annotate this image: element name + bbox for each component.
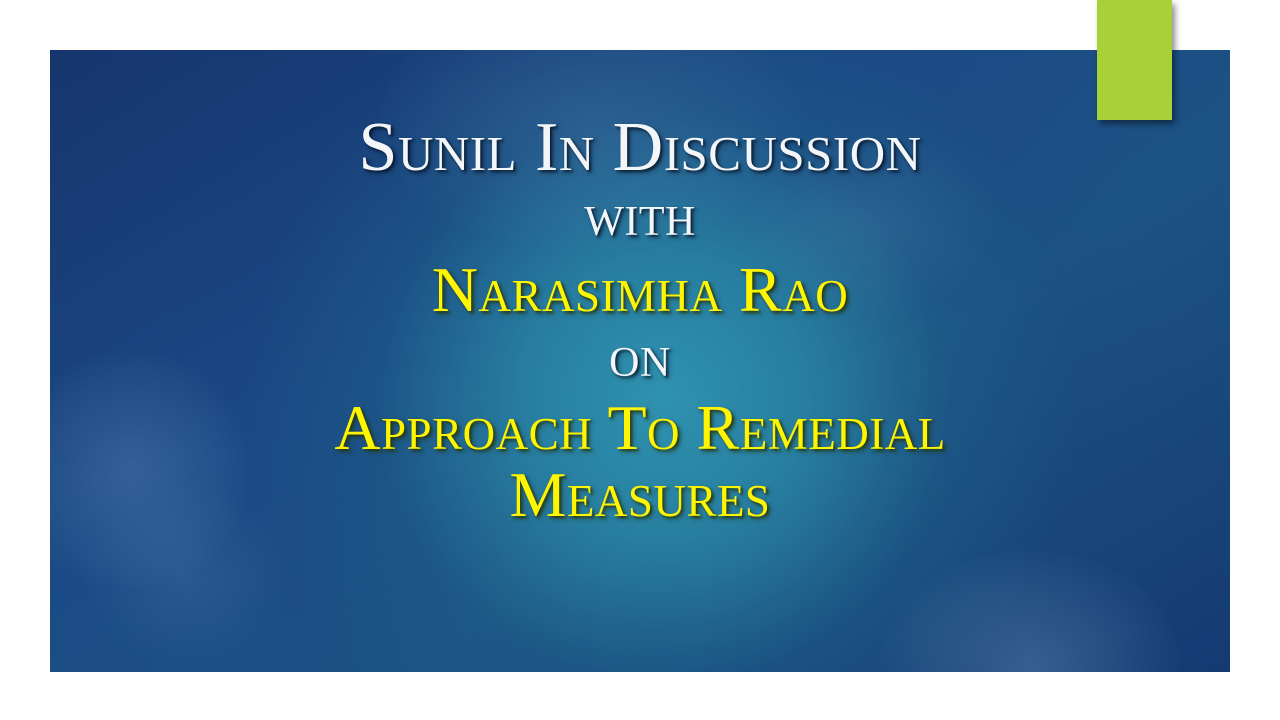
title-line-person-name: Narasimha Rao [432,257,848,322]
title-line-topic-part2: Measures [510,462,771,527]
screenshot-canvas: Sunil In Discussion with Narasimha Rao o… [0,0,1280,720]
title-line-connector-on: on [609,326,671,387]
slide-title-block: Sunil In Discussion with Narasimha Rao o… [50,50,1230,672]
title-line-topic-part1: Approach To Remedial [334,395,945,460]
title-line-subject: Sunil In Discussion [359,112,922,183]
green-accent-bar [1097,0,1172,120]
title-line-connector-with: with [584,185,696,246]
presentation-slide: Sunil In Discussion with Narasimha Rao o… [50,50,1230,672]
